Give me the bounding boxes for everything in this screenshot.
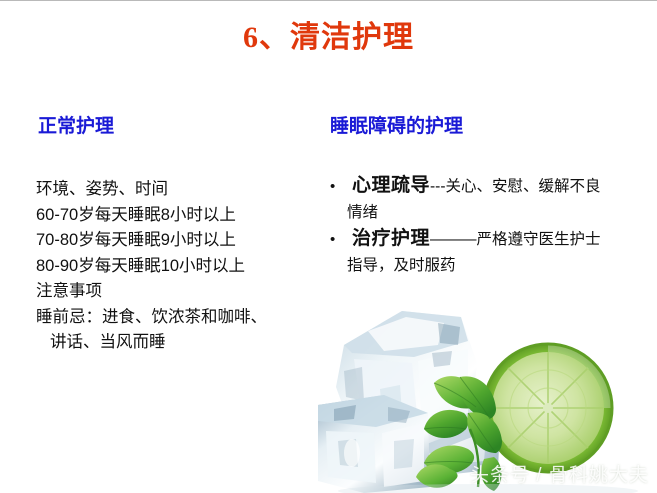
list-item: • 治疗护理———严格遵守医生护士指导，及时服药 <box>330 226 602 279</box>
right-column-heading: 睡眠障碍的护理 <box>330 115 463 139</box>
bullet-lead-text: 心理疏导 <box>352 175 430 196</box>
left-line-3: 70-80岁每天睡眠9小时以上 <box>36 228 321 254</box>
left-column-body: 环境、姿势、时间 60-70岁每天睡眠8小时以上 70-80岁每天睡眠9小时以上… <box>36 177 321 356</box>
left-line-5: 注意事项 <box>36 279 321 305</box>
bullet-content: 心理疏导---关心、安慰、缓解不良情绪 <box>330 173 602 226</box>
slide-canvas: 6、清洁护理 正常护理 环境、姿势、时间 60-70岁每天睡眠8小时以上 70-… <box>0 0 657 493</box>
left-line-4: 80-90岁每天睡眠10小时以上 <box>36 254 321 280</box>
bullet-icon: • <box>330 173 335 200</box>
left-line-6: 睡前忌：进食、饮浓茶和咖啡、 <box>36 305 321 331</box>
left-line-7: 讲话、当风而睡 <box>36 330 321 356</box>
ice-cube-bottom <box>318 395 430 493</box>
page-title: 6、清洁护理 <box>0 19 657 57</box>
bullet-content: 治疗护理———严格遵守医生护士指导，及时服药 <box>330 226 602 279</box>
bullet-icon: • <box>330 226 335 253</box>
watermark-text: 头条号 / 骨科姚大夫 <box>470 463 649 489</box>
left-column-heading: 正常护理 <box>38 115 114 139</box>
list-item: • 心理疏导---关心、安慰、缓解不良情绪 <box>330 173 602 226</box>
left-line-1: 环境、姿势、时间 <box>36 177 321 203</box>
right-column-body: • 心理疏导---关心、安慰、缓解不良情绪 • 治疗护理———严格遵守医生护士指… <box>330 173 602 279</box>
left-line-2: 60-70岁每天睡眠8小时以上 <box>36 203 321 229</box>
bullet-lead-text: 治疗护理 <box>352 228 430 249</box>
lime-half <box>484 344 612 472</box>
